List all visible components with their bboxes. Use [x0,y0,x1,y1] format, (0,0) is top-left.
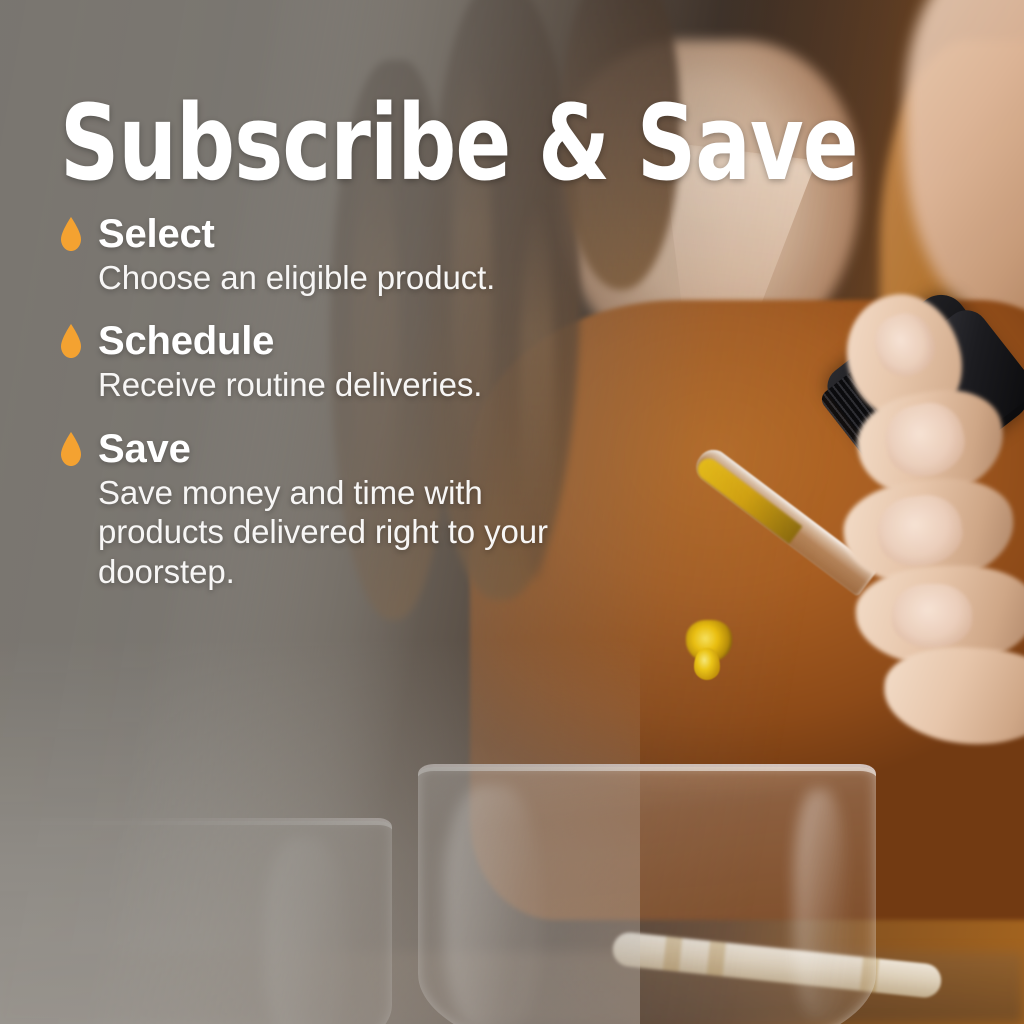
oil-droplet-icon [60,432,82,466]
step-heading: Save [60,429,1024,469]
step-title: Save [98,429,191,469]
step-heading: Schedule [60,321,1024,361]
step-description: Receive routine deliveries. [98,365,568,405]
step-item-schedule: Schedule Receive routine deliveries. [60,321,1024,405]
step-item-save: Save Save money and time with products d… [60,429,1024,592]
step-title: Schedule [98,321,274,361]
promo-title: Subscribe & Save [60,96,908,192]
promo-content: Subscribe & Save Select Choose an eligib… [0,0,1024,1024]
step-heading: Select [60,214,1024,254]
step-description: Choose an eligible product. [98,258,568,298]
oil-droplet-icon [60,324,82,358]
step-item-select: Select Choose an eligible product. [60,214,1024,298]
promo-image: Subscribe & Save Select Choose an eligib… [0,0,1024,1024]
steps-list: Select Choose an eligible product. Sched… [60,214,1024,592]
step-title: Select [98,214,215,254]
oil-droplet-icon [60,217,82,251]
step-description: Save money and time with products delive… [98,473,568,592]
